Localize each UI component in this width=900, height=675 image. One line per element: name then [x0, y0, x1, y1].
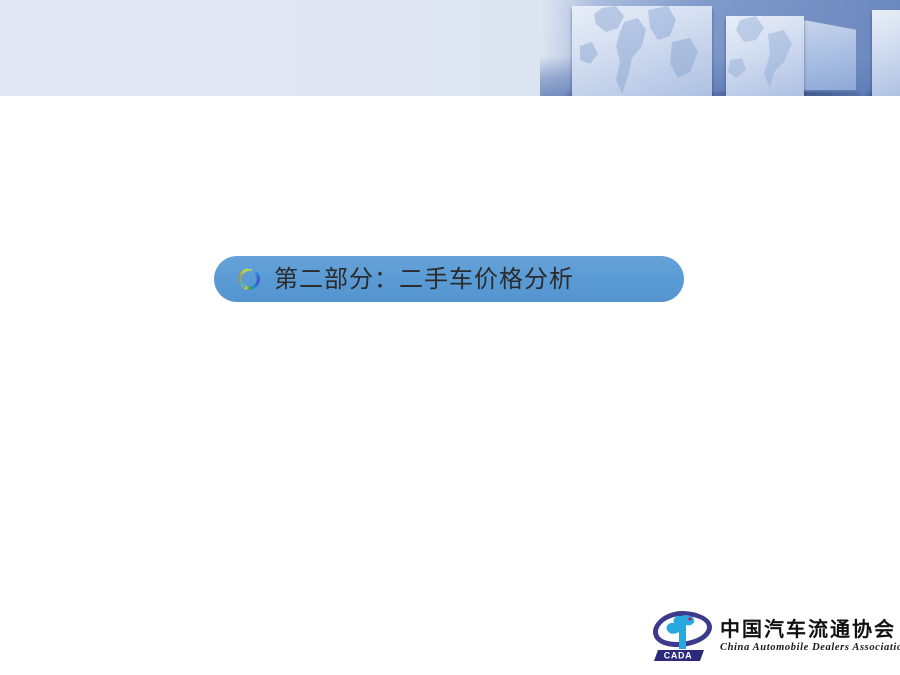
cube-side-face	[804, 20, 856, 90]
cube-front-face	[726, 16, 804, 96]
decorative-cube-left	[572, 0, 732, 96]
logo-chinese-name: 中国汽车流通协会	[720, 619, 900, 640]
decorative-cube-center	[726, 0, 876, 96]
rainbow-ring-icon	[236, 266, 262, 292]
organization-logo: CADA 中国汽车流通协会 China Automobile Dealers A…	[652, 608, 892, 664]
decorative-cube-right	[872, 0, 900, 96]
world-map-icon	[726, 16, 804, 96]
slide-canvas: 第二部分：二手车价格分析 CADA 中国汽车流通协会 China Automob…	[0, 0, 900, 675]
logo-wordmark: 中国汽车流通协会 China Automobile Dealers Associ…	[720, 619, 900, 653]
decorative-header-band	[0, 0, 900, 96]
world-map-texture	[726, 16, 804, 96]
cube-front-face	[572, 6, 712, 96]
section-title-banner: 第二部分：二手车价格分析	[214, 256, 684, 302]
svg-text:CADA: CADA	[664, 651, 692, 661]
cube-front-face	[872, 10, 900, 96]
world-map-texture	[572, 6, 712, 96]
world-map-icon	[572, 6, 712, 96]
cada-emblem-icon: CADA	[652, 609, 714, 663]
logo-english-name: China Automobile Dealers Association	[720, 642, 900, 653]
section-title-text: 第二部分：二手车价格分析	[274, 267, 574, 291]
